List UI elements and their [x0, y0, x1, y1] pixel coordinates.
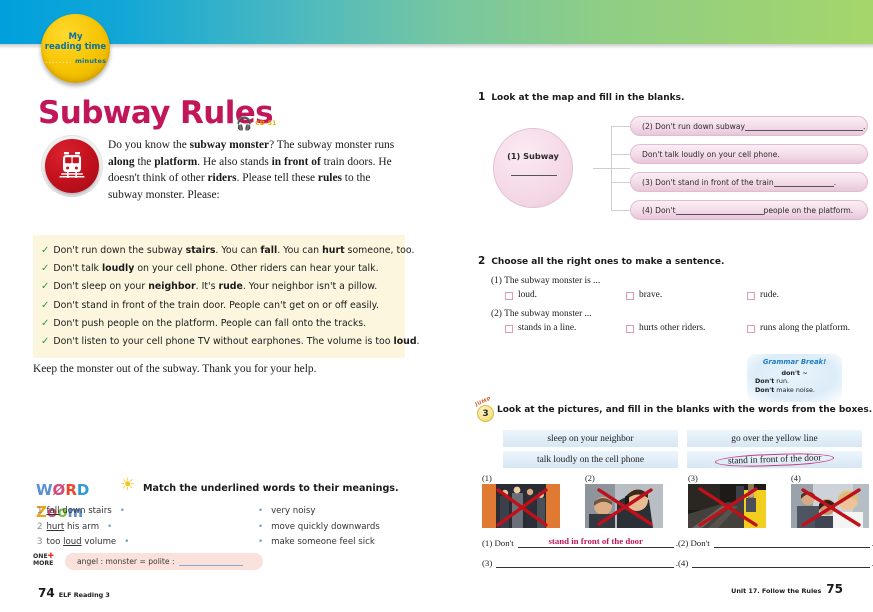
connector-branch-4 — [611, 210, 630, 211]
meaning-text: move quickly downwards — [271, 522, 380, 532]
answer-label: (3) — [482, 558, 492, 568]
section-2-instruction: Choose all the right ones to make a sent… — [491, 257, 724, 267]
one-more-badge: ONE✚ MORE — [33, 553, 54, 567]
unit-title: Unit 17. Follow the Rules — [731, 587, 821, 595]
picture-cell: (4) — [791, 474, 873, 528]
match-number: 2 — [37, 522, 42, 532]
meaning-text: very noisy — [271, 506, 315, 516]
match-post: volume — [82, 537, 117, 547]
headphones-icon: 🎧 — [236, 117, 252, 130]
map-center-label: (1) Subway — [494, 151, 572, 161]
answer-label: (1) Don't — [482, 538, 514, 548]
check-icon: ✓ — [41, 245, 49, 256]
right-page: 1Look at the map and fill in the blanks.… — [437, 49, 873, 612]
mind-map-diagram: (1) Subway (2) Don't run down subway . D… — [478, 113, 868, 223]
book-title: ELF Reading 3 — [59, 591, 110, 599]
left-page-footer: 74ELF Reading 3 — [38, 582, 110, 601]
one-more-section: ONE✚ MORE angel : monster = polite : — [33, 553, 263, 570]
match-pre: too — [46, 537, 63, 547]
answer-filled-text[interactable]: stand in front of the door — [518, 536, 674, 548]
sun-burst-icon: ☀ — [120, 475, 135, 495]
jump-badge: JUMP 3 — [475, 401, 497, 423]
rule-item: ✓Don't talk loudly on your cell phone. O… — [33, 260, 405, 278]
rule-item: ✓Don't run down the subway stairs. You c… — [33, 242, 405, 260]
meaning-dot-icon[interactable]: • — [258, 522, 263, 532]
meaning-text: make someone feel sick — [271, 537, 375, 547]
word-zoom-right-column: •very noisy •move quickly downwards •mak… — [258, 504, 448, 551]
subway-train-icon — [45, 139, 99, 193]
answer-item[interactable]: (2) Don't . — [678, 536, 873, 548]
picture-3 — [688, 484, 766, 528]
word-bank-text-circled: stand in front of the door — [715, 451, 835, 467]
word-bank-text: go over the yellow line — [731, 434, 817, 444]
branch-blank[interactable] — [745, 122, 863, 131]
left-page: Subway Rules 🎧 CD-51 Do you know the sub… — [0, 49, 437, 612]
map-branch-pill[interactable]: (3) Don't stand in front of the train . — [630, 172, 868, 192]
grammar-break-example: Don't make noise. — [755, 386, 842, 395]
option-label: hurts other riders. — [639, 323, 705, 333]
match-underlined-word: hurt — [46, 522, 64, 532]
answer-row: (3) . (4) . — [482, 557, 873, 568]
rule-text: Don't listen to your cell phone TV witho… — [53, 336, 419, 347]
rule-text: Don't run down the subway stairs. You ca… — [53, 245, 414, 256]
word-zoom-logo-part: R — [65, 481, 77, 499]
rule-item: ✓Don't listen to your cell phone TV with… — [33, 333, 405, 351]
option-choice[interactable]: stands in a line. — [505, 323, 626, 333]
word-bank-box[interactable]: sleep on your neighbor — [503, 430, 678, 447]
page-number: 74 — [38, 586, 55, 600]
section-3-heading: Look at the pictures, and fill in the bl… — [497, 405, 872, 415]
picture-2 — [585, 484, 663, 528]
header-gradient-band — [0, 0, 873, 44]
picture-label: (4) — [791, 474, 873, 483]
option-choice[interactable]: rude. — [747, 290, 868, 300]
word-zoom-logo: WØRD Zoom ☀ — [36, 479, 141, 503]
section-2-heading: 2Choose all the right ones to make a sen… — [478, 255, 868, 267]
picture-label: (3) — [688, 474, 770, 483]
audio-cd-marker: 🎧 CD-51 — [236, 117, 277, 130]
rule-item: ✓Don't sleep on your neighbor. It's rude… — [33, 278, 405, 296]
option-label: brave. — [639, 290, 662, 300]
page-number: 75 — [826, 582, 843, 596]
checkbox-icon[interactable] — [505, 325, 513, 333]
branch-blank[interactable] — [774, 178, 834, 187]
section-3-answers: (1) Don't stand in front of the door . (… — [482, 536, 873, 577]
option-choice[interactable]: runs along the platform. — [747, 323, 868, 333]
match-dot-icon[interactable]: • — [107, 522, 112, 532]
section-1-instruction: Look at the map and fill in the blanks. — [491, 93, 684, 103]
check-icon: ✓ — [41, 300, 49, 311]
section-1-heading: 1Look at the map and fill in the blanks. — [478, 91, 868, 103]
word-bank-text: talk loudly on the cell phone — [537, 455, 644, 465]
section-2-number: 2 — [478, 255, 485, 267]
answer-label: (4) — [678, 558, 688, 568]
checkbox-icon[interactable] — [626, 325, 634, 333]
grammar-break-pattern: don't ~ — [747, 369, 842, 377]
connector-spine — [611, 126, 612, 211]
rule-text: Don't sleep on your neighbor. It's rude.… — [53, 281, 377, 292]
connector-branch-2 — [611, 154, 630, 155]
check-icon: ✓ — [41, 263, 49, 274]
section-1-number: 1 — [478, 91, 485, 103]
one-more-line-2: MORE — [33, 560, 53, 567]
closing-sentence: Keep the monster out of the subway. Than… — [33, 363, 403, 375]
checkbox-icon[interactable] — [747, 292, 755, 300]
section-2-question-stem: (1) The subway monster is ... — [491, 276, 868, 286]
answer-item[interactable]: (4) . — [678, 557, 873, 568]
rule-text: Don't stand in front of the train door. … — [53, 300, 378, 311]
picture-label: (2) — [585, 474, 667, 483]
grammar-break-box: Grammar Break! don't ~ Don't run. Don't … — [747, 354, 842, 402]
analogy-answer-blank[interactable] — [179, 558, 243, 566]
meaning-item[interactable]: •move quickly downwards — [258, 520, 448, 536]
grammar-break-example: Don't run. — [755, 377, 842, 386]
match-dot-icon[interactable]: • — [120, 506, 125, 516]
picture-cell: (3) — [688, 474, 770, 528]
option-choice[interactable]: brave. — [626, 290, 747, 300]
match-post: his arm — [64, 522, 99, 532]
answer-item[interactable]: (3) . — [482, 557, 678, 568]
map-branch-pill[interactable]: (2) Don't run down subway . — [630, 116, 868, 136]
section-3-instruction: Look at the pictures, and fill in the bl… — [497, 405, 872, 415]
word-bank-box[interactable]: stand in front of the door — [687, 451, 862, 468]
right-page-footer: Unit 17. Follow the Rules75 — [731, 582, 843, 596]
check-icon: ✓ — [41, 281, 49, 292]
match-number: 1 — [37, 506, 42, 516]
section-2-question-stem: (2) The subway monster ... — [491, 309, 868, 319]
picture-4 — [791, 484, 869, 528]
word-zoom-left-column: 1fall down stairs• 2hurt his arm• 3too l… — [37, 504, 237, 551]
picture-cell: (2) — [585, 474, 667, 528]
rules-list-box: ✓Don't run down the subway stairs. You c… — [33, 235, 405, 358]
check-icon: ✓ — [41, 318, 49, 329]
section-2: 2Choose all the right ones to make a sen… — [478, 255, 868, 333]
meaning-item[interactable]: •very noisy — [258, 504, 448, 520]
answer-label: (2) Don't — [678, 538, 710, 548]
branch-pre-text: Don't talk loudly on your cell phone. — [642, 150, 780, 159]
match-dot-icon[interactable]: • — [124, 537, 129, 547]
answer-item[interactable]: (1) Don't stand in front of the door . — [482, 536, 678, 548]
check-icon: ✓ — [41, 336, 49, 347]
badge-line-1: My — [69, 32, 83, 42]
branch-pre-text: (2) Don't run down subway — [642, 122, 745, 131]
answer-blank-line[interactable] — [714, 537, 870, 548]
picture-label: (1) — [482, 474, 564, 483]
rule-text: Don't talk loudly on your cell phone. Ot… — [53, 263, 378, 274]
match-item[interactable]: 1fall down stairs• — [37, 504, 237, 520]
option-label: stands in a line. — [518, 323, 576, 333]
branch-pre-text: (3) Don't stand in front of the train — [642, 178, 774, 187]
checkbox-icon[interactable] — [626, 292, 634, 300]
branch-post-text: . — [863, 122, 865, 131]
map-center-blank[interactable] — [511, 175, 557, 176]
word-bank-text: sleep on your neighbor — [547, 434, 633, 444]
match-post: down stairs — [60, 506, 112, 516]
section-3-number: 3 — [477, 405, 494, 422]
answer-row: (1) Don't stand in front of the door . (… — [482, 536, 873, 548]
section-2-option-row: stands in a line. hurts other riders. ru… — [505, 323, 868, 333]
map-center-node[interactable]: (1) Subway — [493, 128, 573, 208]
word-zoom-logo-part: Ø — [53, 481, 66, 499]
option-label: loud. — [518, 290, 537, 300]
connector-branch-1 — [611, 126, 630, 127]
word-bank-box[interactable]: go over the yellow line — [687, 430, 862, 447]
grammar-break-title: Grammar Break! — [747, 354, 842, 366]
branch-post-text: people on the platform. — [764, 206, 854, 215]
branch-post-text: . — [834, 178, 836, 187]
map-branch-pill[interactable]: Don't talk loudly on your cell phone. — [630, 144, 868, 164]
meaning-dot-icon[interactable]: • — [258, 537, 263, 547]
match-underlined-word: fall — [46, 506, 59, 516]
branch-blank[interactable] — [676, 206, 764, 215]
match-underlined-word: loud — [63, 537, 82, 547]
option-label: rude. — [760, 290, 779, 300]
picture-cell: (1) — [482, 474, 564, 528]
map-branch-pill[interactable]: (4) Don't people on the platform. — [630, 200, 868, 220]
checkbox-icon[interactable] — [747, 325, 755, 333]
word-zoom-logo-part: W — [36, 481, 53, 499]
word-zoom-logo-part: D — [77, 481, 89, 499]
rule-item: ✓Don't stand in front of the train door.… — [33, 297, 405, 315]
analogy-text: angel : monster = polite : — [77, 557, 175, 566]
match-item[interactable]: 3too loud volume• — [37, 535, 237, 551]
answer-blank-line[interactable] — [496, 557, 674, 568]
option-choice[interactable]: hurts other riders. — [626, 323, 747, 333]
section-2-option-row: loud. brave. rude. — [505, 290, 868, 300]
checkbox-icon[interactable] — [505, 292, 513, 300]
connector-branch-3 — [611, 182, 630, 183]
picture-grid: (1) — [482, 474, 872, 529]
match-item[interactable]: 2hurt his arm• — [37, 520, 237, 536]
analogy-bar[interactable]: angel : monster = polite : — [65, 553, 263, 570]
meaning-item[interactable]: •make someone feel sick — [258, 535, 448, 551]
match-number: 3 — [37, 537, 42, 547]
rule-item: ✓Don't push people on the platform. Peop… — [33, 315, 405, 333]
intro-paragraph: Do you know the subway monster? The subw… — [108, 137, 398, 203]
rule-text: Don't push people on the platform. Peopl… — [53, 318, 366, 329]
picture-1 — [482, 484, 560, 528]
word-zoom-instruction: Match the underlined words to their mean… — [143, 483, 399, 494]
answer-blank-line[interactable] — [692, 557, 870, 568]
meaning-dot-icon[interactable]: • — [258, 506, 263, 516]
option-choice[interactable]: loud. — [505, 290, 626, 300]
audio-track-label: CD-51 — [255, 120, 276, 127]
word-bank-box[interactable]: talk loudly on the cell phone — [503, 451, 678, 468]
option-label: runs along the platform. — [760, 323, 850, 333]
branch-pre-text: (4) Don't — [642, 206, 676, 215]
